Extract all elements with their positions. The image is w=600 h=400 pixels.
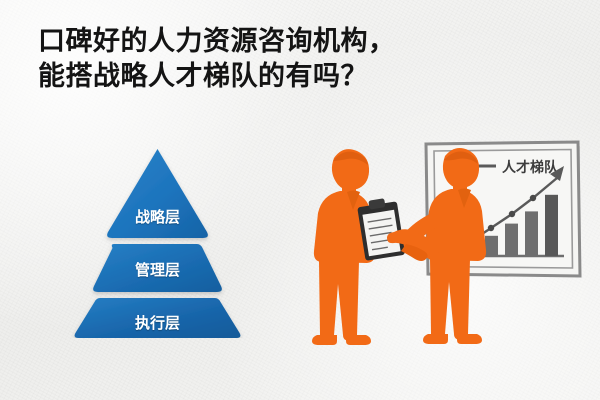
legend-label-talent-pipeline: 人才梯队 — [502, 159, 559, 176]
pyramid-level-execution[interactable] — [75, 298, 241, 338]
chart-bar — [505, 224, 518, 256]
trend-marker — [530, 195, 536, 201]
scene-svg: 人才梯队 — [310, 128, 590, 368]
chart-bar — [525, 211, 538, 256]
pyramid-level-management[interactable] — [93, 244, 222, 292]
poster-canvas: 口碑好的人力资源咨询机构， 能搭战略人才梯队的有吗？ — [0, 0, 600, 400]
page-title: 口碑好的人力资源咨询机构， 能搭战略人才梯队的有吗？ — [38, 24, 468, 94]
pyramid-svg — [50, 146, 265, 338]
headline-line-1: 口碑好的人力资源咨询机构， — [38, 24, 468, 59]
pyramid-level-strategy[interactable] — [107, 149, 208, 238]
trend-marker — [488, 225, 494, 231]
headline-line-2: 能搭战略人才梯队的有吗？ — [38, 59, 468, 94]
chart-bar — [485, 236, 498, 256]
handshake-scene: 人才梯队 — [310, 128, 590, 368]
talent-pyramid-diagram: 战略层 管理层 执行层 — [50, 146, 265, 338]
trend-marker — [509, 211, 515, 217]
chart-bar — [545, 195, 558, 256]
